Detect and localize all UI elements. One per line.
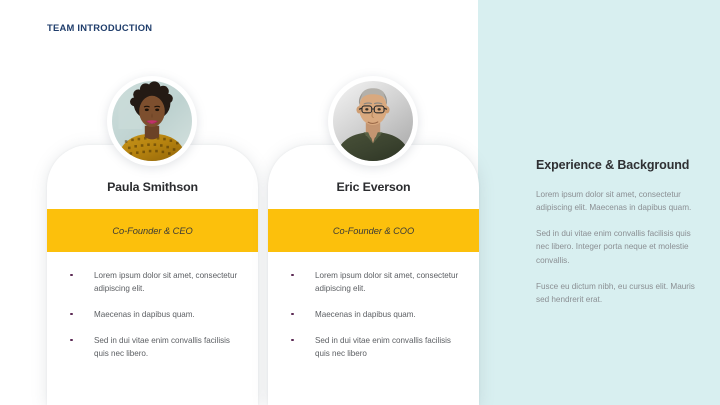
slide-canvas: Experience & Background Lorem ipsum dolo…	[0, 0, 720, 405]
side-panel-background: Experience & Background Lorem ipsum dolo…	[478, 0, 720, 405]
member-name: Eric Everson	[268, 180, 479, 194]
list-item-text: Maecenas in dapibus quam.	[94, 310, 195, 319]
avatar-photo-man	[333, 81, 413, 161]
list-item: Maecenas in dapibus quam.	[68, 308, 246, 321]
team-member-card[interactable]: Eric Everson Co-Founder & COO Lorem ipsu…	[268, 145, 479, 405]
list-item: Lorem ipsum dolor sit amet, consectetur …	[289, 269, 467, 295]
side-panel-content: Experience & Background Lorem ipsum dolo…	[536, 157, 696, 306]
bullet-dot-icon	[291, 313, 294, 316]
bullet-dot-icon	[70, 313, 73, 316]
member-bullet-list: Lorem ipsum dolor sit amet, consectetur …	[289, 269, 467, 361]
side-panel-paragraph: Lorem ipsum dolor sit amet, consectetur …	[536, 188, 696, 215]
avatar	[107, 76, 197, 166]
bullet-dot-icon	[70, 274, 73, 277]
member-role-label: Co-Founder & CEO	[112, 226, 192, 236]
list-item-text: Lorem ipsum dolor sit amet, consectetur …	[315, 271, 458, 293]
list-item: Sed in dui vitae enim convallis facilisi…	[68, 334, 246, 360]
avatar-photo-woman	[112, 81, 192, 161]
list-item: Maecenas in dapibus quam.	[289, 308, 467, 321]
bullet-dot-icon	[291, 339, 294, 342]
list-item-text: Sed in dui vitae enim convallis facilisi…	[315, 336, 451, 358]
list-item-text: Lorem ipsum dolor sit amet, consectetur …	[94, 271, 237, 293]
member-role-banner: Co-Founder & COO	[268, 209, 479, 252]
team-member-card[interactable]: Paula Smithson Co-Founder & CEO Lorem ip…	[47, 145, 258, 405]
member-bullet-list: Lorem ipsum dolor sit amet, consectetur …	[68, 269, 246, 361]
list-item: Lorem ipsum dolor sit amet, consectetur …	[68, 269, 246, 295]
bullet-dot-icon	[70, 339, 73, 342]
side-panel-paragraph: Fusce eu dictum nibh, eu cursus elit. Ma…	[536, 280, 696, 307]
side-panel-heading: Experience & Background	[536, 157, 696, 174]
bullet-dot-icon	[291, 274, 294, 277]
member-role-label: Co-Founder & COO	[333, 226, 414, 236]
member-role-banner: Co-Founder & CEO	[47, 209, 258, 252]
side-panel-paragraph: Sed in dui vitae enim convallis facilisi…	[536, 227, 696, 267]
avatar	[328, 76, 418, 166]
list-item: Sed in dui vitae enim convallis facilisi…	[289, 334, 467, 360]
list-item-text: Maecenas in dapibus quam.	[315, 310, 416, 319]
list-item-text: Sed in dui vitae enim convallis facilisi…	[94, 336, 230, 358]
page-title: TEAM INTRODUCTION	[47, 22, 152, 33]
member-name: Paula Smithson	[47, 180, 258, 194]
